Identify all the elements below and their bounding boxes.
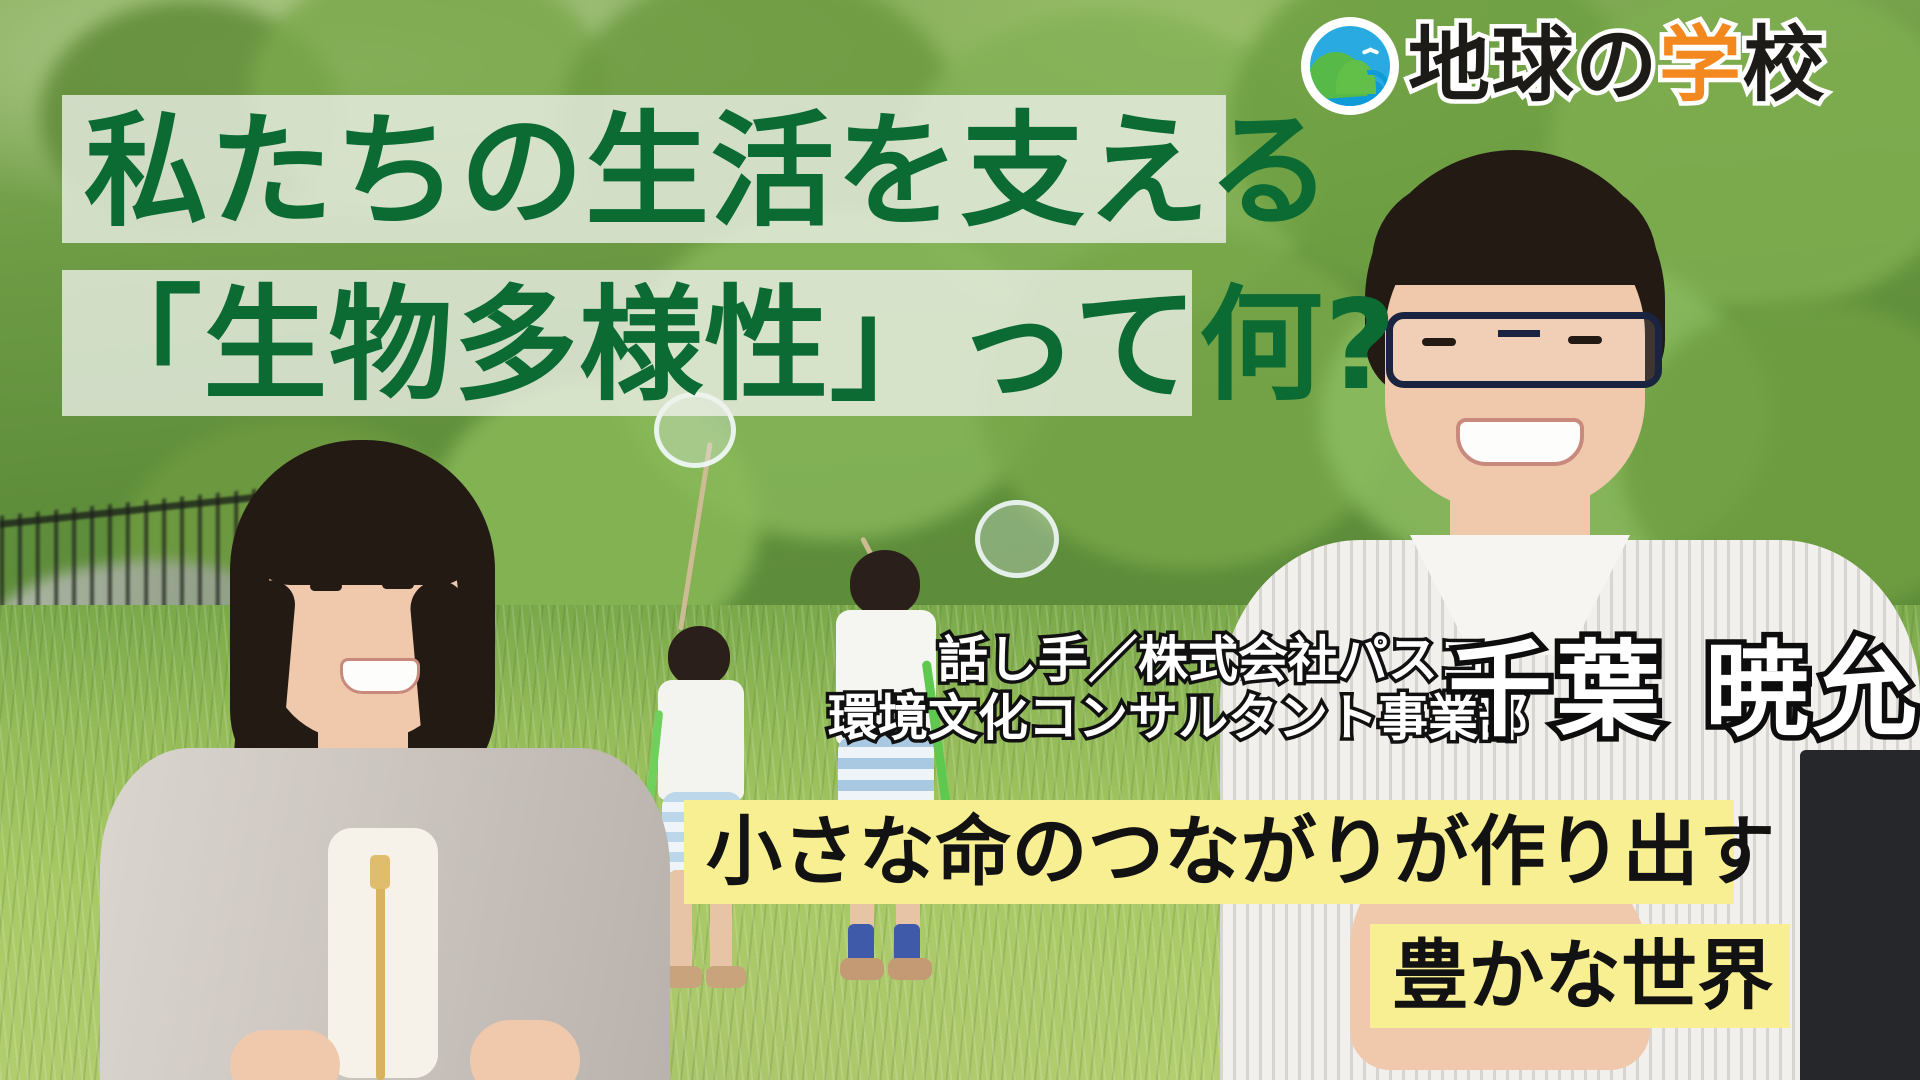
catch-banner-1-text: 小さな命のつながりが作り出す [684, 810, 1775, 894]
catch-banner-2-text: 豊かな世界 [1370, 934, 1774, 1018]
child-shoe [888, 958, 932, 980]
earth-globe-logo-icon [1306, 22, 1394, 110]
laptop-edge [1800, 750, 1920, 1080]
thumbnail-canvas: 私たちの生活を支える 「生物多様性」って何? 地球の 学 校 話し手／株式会社パ… [0, 0, 1920, 1080]
child-with-net-right [820, 540, 970, 1000]
title-line1: 私たちの生活を支える [84, 104, 1333, 240]
catch-banner-2: 豊かな世界 [1370, 924, 1790, 1028]
child-shoe [840, 958, 884, 980]
man-eye [1568, 336, 1602, 344]
credit-line-2-text: 環境文化コンサルタント事業部 [828, 689, 1528, 747]
man-mouth [1456, 418, 1584, 466]
brand-wordmark: 地球の 学 校 [1408, 25, 1826, 107]
man-hair-front [1372, 180, 1657, 285]
title-line2: 「生物多様性」って何? [78, 278, 1397, 414]
woman-eye [382, 580, 414, 589]
man-glasses [1386, 312, 1662, 388]
child-head [668, 626, 730, 686]
brand-text-dark-2: 校 [1743, 25, 1827, 107]
brand-text-dark-1: 地球の [1408, 25, 1659, 107]
child-shirt [658, 680, 744, 800]
credit-line-2: 環境文化コンサルタント事業部 [828, 690, 1528, 746]
woman-bangs [252, 470, 477, 585]
woman-zipper [376, 860, 385, 1080]
speaker-name: 千葉 暁允 [1448, 634, 1920, 746]
bird-icon [1362, 46, 1378, 56]
woman-eye [310, 582, 342, 591]
catch-banner-1: 小さな命のつながりが作り出す [684, 800, 1734, 904]
woman-hand [230, 1030, 340, 1080]
woman-zipper-pull [370, 855, 390, 889]
host-woman-portrait [40, 430, 670, 1080]
brand-text-orange: 学 [1659, 25, 1743, 107]
globe-circle [1310, 26, 1390, 106]
child-head [850, 550, 920, 616]
credit-line-1-text: 話し手／株式会社パスコ [938, 631, 1488, 689]
woman-hand [470, 1020, 580, 1080]
woman-mouth [340, 658, 420, 694]
man-glasses-bridge [1498, 330, 1540, 337]
credit-line-1: 話し手／株式会社パスコ [938, 632, 1488, 688]
child-shoe [706, 966, 746, 988]
man-eye [1422, 338, 1456, 346]
brand-logo[interactable]: 地球の 学 校 [1306, 22, 1826, 110]
insect-net-ring [975, 500, 1059, 578]
